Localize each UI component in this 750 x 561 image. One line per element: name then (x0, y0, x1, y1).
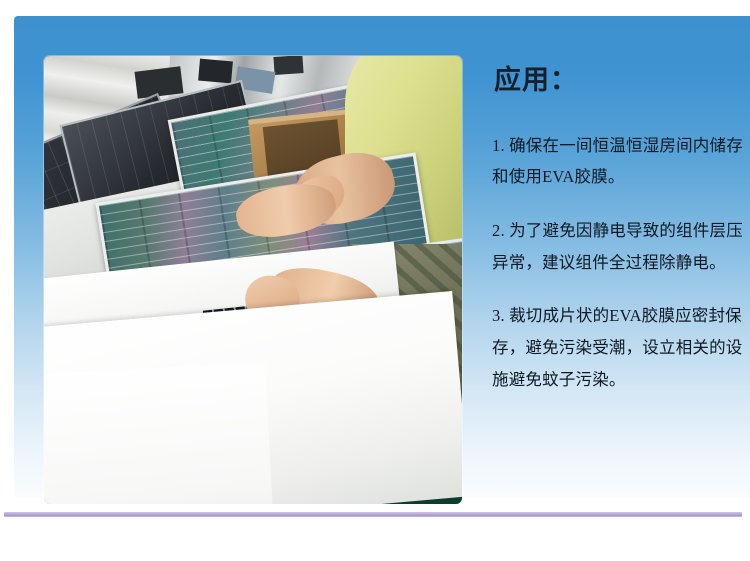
product-photo (44, 56, 462, 504)
text-column: 应用： 1. 确保在一间恒温恒湿房间内储存和使用EVA胶膜。 2. 为了避免因静… (492, 66, 750, 395)
photo-scrap-dark-c (273, 56, 303, 75)
section-title: 应用： (494, 66, 750, 96)
bottom-divider (4, 512, 742, 517)
application-item-3: 3. 裁切成片状的EVA胶膜应密封保存，避免污染受潮，设立相关的设施避免蚊子污染… (492, 300, 750, 395)
application-item-2: 2. 为了避免因静电导致的组件层压异常，建议组件全过程除静电。 (492, 215, 750, 278)
photo-scrap-dark-b (198, 59, 233, 84)
application-item-1: 1. 确保在一间恒温恒湿房间内储存和使用EVA胶膜。 (492, 130, 750, 193)
page-root: 应用： 1. 确保在一间恒温恒湿房间内储存和使用EVA胶膜。 2. 为了避免因静… (0, 0, 750, 561)
photo-eva-sheet-3 (44, 362, 274, 504)
content-panel: 应用： 1. 确保在一间恒温恒湿房间内储存和使用EVA胶膜。 2. 为了避免因静… (14, 16, 750, 498)
